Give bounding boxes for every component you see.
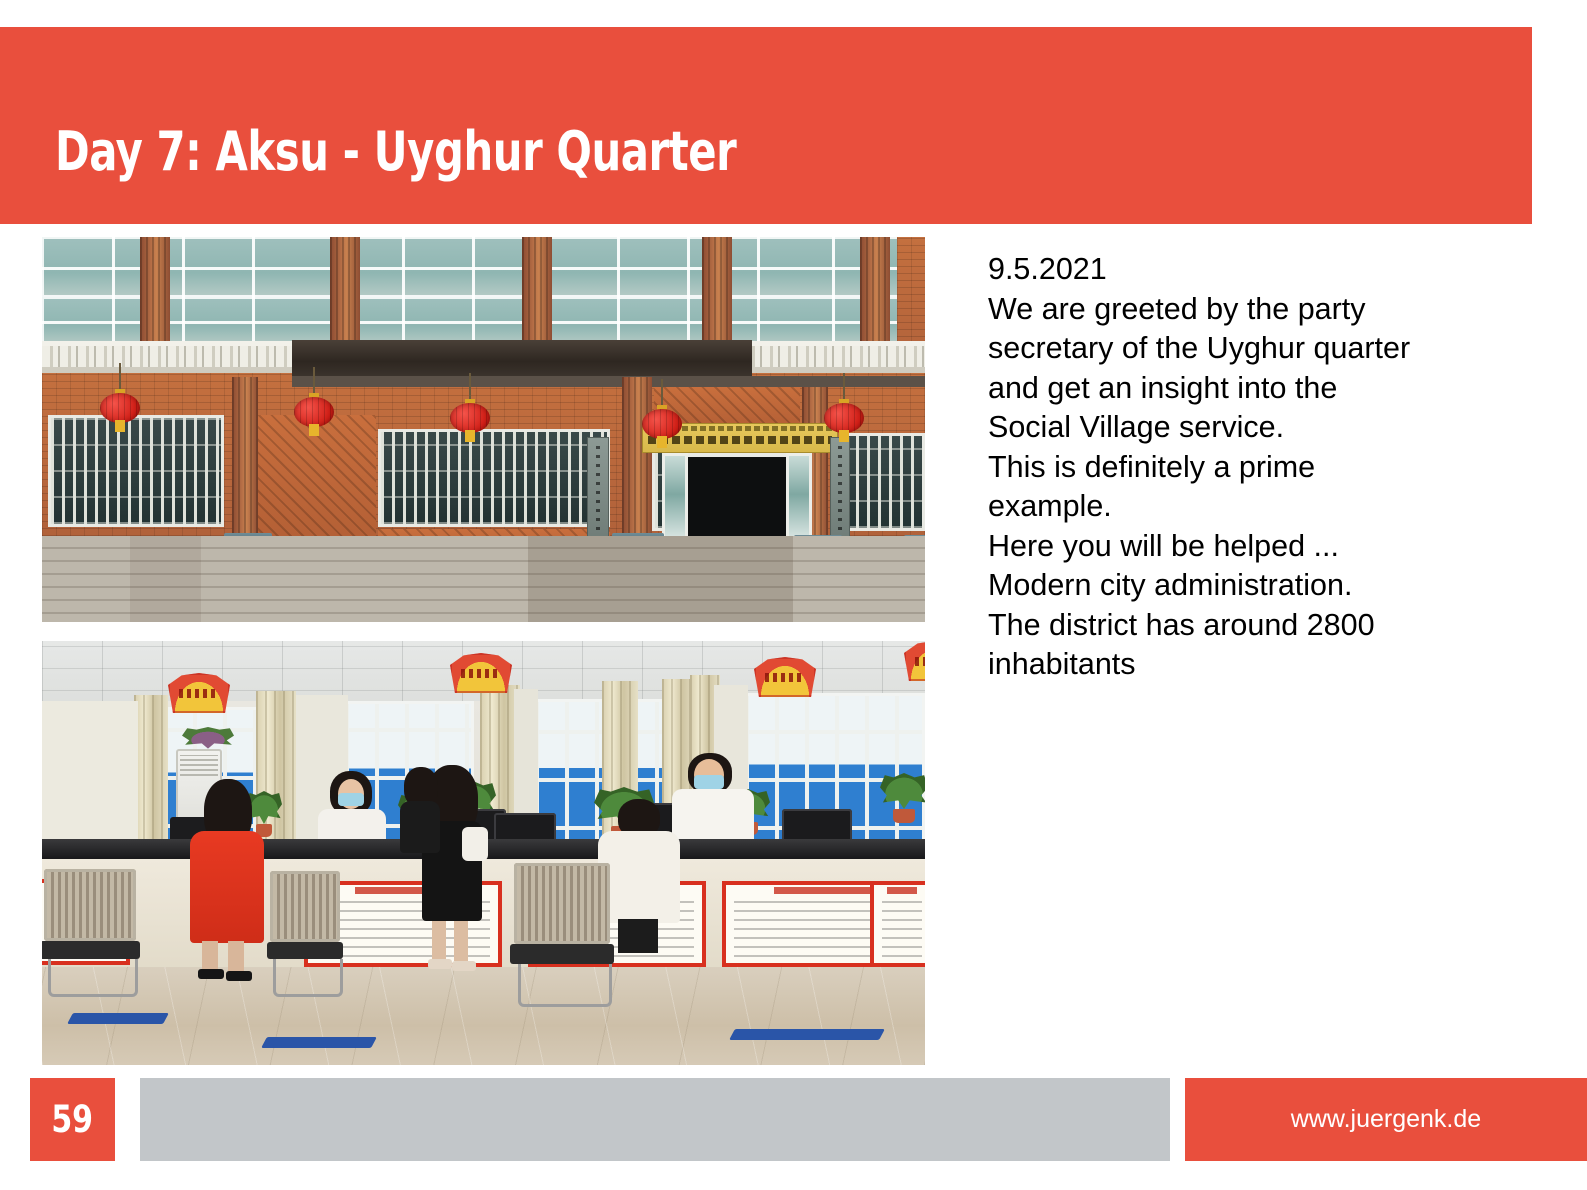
- floor: [42, 967, 925, 1065]
- page-number-box: 59: [30, 1078, 115, 1161]
- barred-window: [842, 433, 925, 531]
- red-lantern: [824, 399, 864, 433]
- red-lantern: [294, 393, 334, 427]
- body-line: example.: [988, 487, 1508, 527]
- floor-marking: [261, 1037, 377, 1048]
- visitor-in-red: [188, 779, 264, 959]
- website-box: www.juergenk.de: [1185, 1078, 1587, 1161]
- body-line: Social Village service.: [988, 408, 1508, 448]
- visitor-behind: [400, 767, 440, 847]
- page-title: Day 7: Aksu - Uyghur Quarter: [55, 125, 736, 179]
- flower-arrangement: [182, 727, 234, 757]
- entrance-canopy: [292, 340, 752, 376]
- floor-marking: [67, 1013, 169, 1024]
- slide-body-text: 9.5.2021 We are greeted by the party sec…: [988, 250, 1508, 685]
- website-url: www.juergenk.de: [1291, 1105, 1481, 1134]
- office-interior-photo: [42, 641, 925, 1065]
- red-lantern: [450, 399, 490, 433]
- waiting-chair: [44, 869, 136, 997]
- page-number: 59: [52, 1098, 94, 1141]
- decorative-fan: [450, 653, 512, 693]
- entrance-steps: [42, 536, 925, 622]
- slide: Day 7: Aksu - Uyghur Quarter: [0, 0, 1587, 1190]
- red-lantern: [100, 389, 140, 423]
- body-line: secretary of the Uyghur quarter: [988, 329, 1508, 369]
- body-line: inhabitants: [988, 645, 1508, 685]
- decorative-fan: [168, 673, 230, 713]
- canopy-edge: [292, 376, 925, 387]
- body-line: and get an insight into the: [988, 369, 1508, 409]
- decorative-fan: [754, 657, 816, 697]
- pilaster: [232, 377, 258, 547]
- potted-plant: [880, 773, 925, 823]
- waiting-chair: [270, 871, 340, 997]
- decorative-fan: [904, 641, 925, 681]
- body-line: 9.5.2021: [988, 250, 1508, 290]
- floor-marking: [729, 1029, 885, 1040]
- wall-plaque: [587, 437, 609, 545]
- barred-window: [378, 429, 610, 527]
- pilaster: [622, 377, 652, 547]
- entrance-door: [662, 453, 812, 545]
- red-lantern: [642, 405, 682, 439]
- body-line: Here you will be helped ...: [988, 527, 1508, 567]
- footer-gray-bar: [140, 1078, 1170, 1161]
- building-exterior-photo: [42, 237, 925, 622]
- notice-poster: [870, 881, 925, 967]
- upper-window-band-2: [42, 297, 925, 345]
- upper-window-band-1: [42, 237, 925, 297]
- body-line: This is definitely a prime: [988, 448, 1508, 488]
- barred-window: [48, 415, 224, 527]
- waiting-chair: [514, 863, 610, 1007]
- staff-member: [672, 753, 754, 849]
- body-line: Modern city administration.: [988, 566, 1508, 606]
- body-line: We are greeted by the party: [988, 290, 1508, 330]
- body-line: The district has around 2800: [988, 606, 1508, 646]
- seated-visitor: [598, 799, 680, 949]
- wall-plaque: [830, 437, 850, 545]
